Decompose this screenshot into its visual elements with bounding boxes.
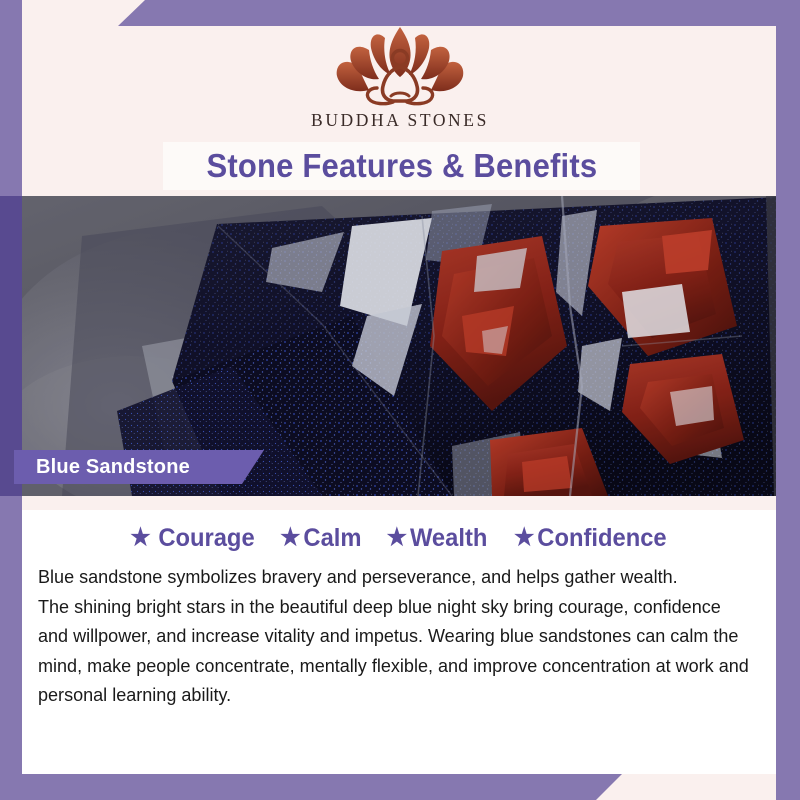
description-line-2: The shining bright stars in the beautifu… [38, 592, 754, 710]
star-icon: ★ [280, 526, 300, 550]
feature-item-wealth: ★ Wealth [387, 524, 488, 553]
brand-name: BUDDHA STONES [311, 110, 489, 131]
feature-item-courage: ★ Courage [131, 524, 255, 553]
feature-label: Wealth [410, 524, 487, 553]
star-icon: ★ [131, 526, 151, 550]
feature-list: ★ Courage ★ Calm ★ Wealth ★ Confidence [22, 518, 776, 558]
frame-bottom-border [0, 774, 800, 800]
panel-top-tint [22, 496, 776, 510]
lotus-meditation-icon [325, 22, 475, 108]
feature-item-confidence: ★ Confidence [514, 524, 667, 553]
feature-label: Courage [159, 524, 255, 553]
star-icon: ★ [387, 526, 407, 550]
description-text: Blue sandstone symbolizes bravery and pe… [38, 562, 754, 710]
brand-logo: BUDDHA STONES [0, 22, 800, 142]
star-icon: ★ [514, 526, 534, 550]
stone-name-label: Blue Sandstone [36, 456, 190, 479]
feature-label: Calm [304, 524, 362, 553]
feature-item-calm: ★ Calm [280, 524, 361, 553]
feature-label: Confidence [537, 524, 666, 553]
page-title: Stone Features & Benefits [206, 147, 597, 185]
stone-info-card: BUDDHA STONES Stone Features & Benefits … [0, 0, 800, 800]
stone-name-badge: Blue Sandstone [14, 450, 264, 484]
description-line-1: Blue sandstone symbolizes bravery and pe… [38, 562, 754, 592]
title-banner: Stone Features & Benefits [163, 142, 640, 190]
